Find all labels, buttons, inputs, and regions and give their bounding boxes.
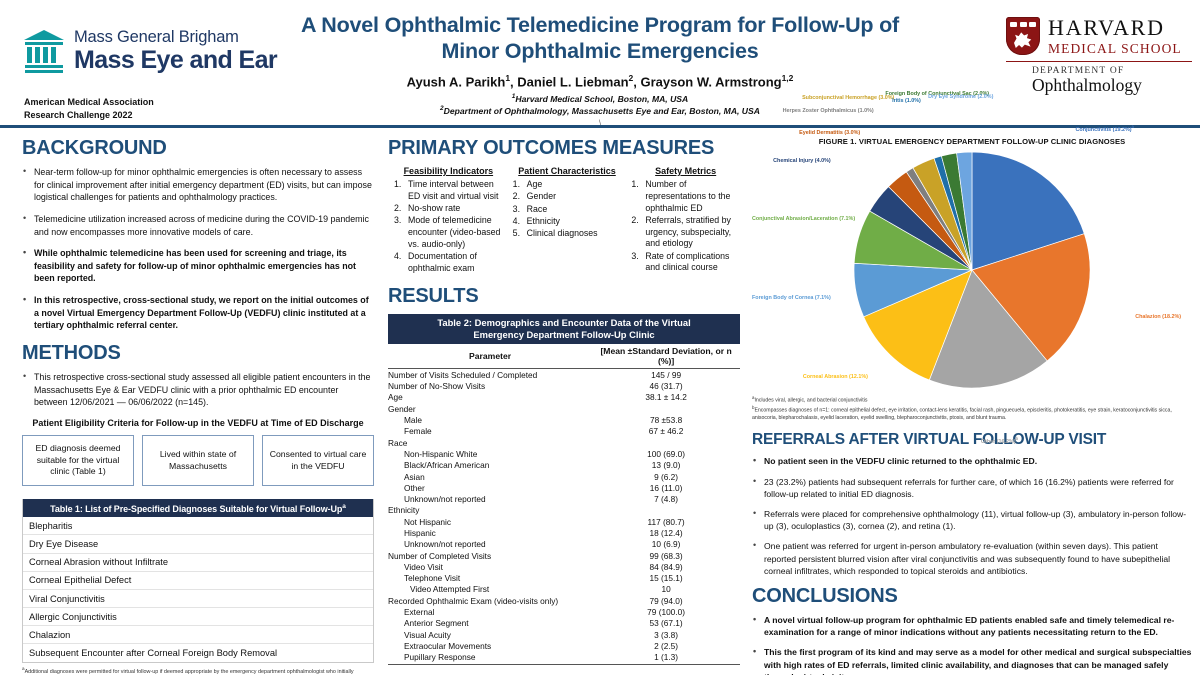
column-right: FIGURE 1. VIRTUAL EMERGENCY DEPARTMENT F… [752, 137, 1192, 675]
pie-svg [752, 148, 1192, 393]
outcomes-column-header: Safety Metrics [631, 166, 740, 176]
table-cell-parameter: Video Visit [388, 561, 592, 572]
outcomes-item: Clinical diagnoses [513, 228, 622, 240]
conclusions-bullet: A novel virtual follow-up program for op… [752, 614, 1192, 638]
table-cell-parameter: Female [388, 426, 592, 437]
pie-slice-label: Conjunctival Abrasion/Laceration (7.1%) [752, 216, 803, 223]
outcomes-list: Time interval between ED visit and virtu… [394, 179, 503, 275]
table-row: Female67 ± 46.2 [388, 426, 740, 437]
results-heading: RESULTS [388, 285, 740, 308]
figure-1-footnotes: aIncludes viral, allergic, and bacterial… [752, 395, 1192, 422]
table-cell-parameter: Number of Completed Visits [388, 550, 592, 561]
table-cell-parameter: Black/African American [388, 460, 592, 471]
conclusions-bullets: A novel virtual follow-up program for op… [752, 614, 1192, 675]
table-2-title: Table 2: Demographics and Encounter Data… [388, 314, 740, 344]
table-cell-parameter: Extraocular Movements [388, 640, 592, 651]
table-cell-value: 9 (6.2) [592, 471, 740, 482]
table-1: Table 1: List of Pre-Specified Diagnoses… [22, 499, 374, 663]
outcomes-item: Gender [513, 191, 622, 203]
table-cell-parameter: Visual Acuity [388, 629, 592, 640]
pie-slice-label: Other (16.2%)b [939, 436, 1059, 446]
table-row: Other16 (11.0) [388, 482, 740, 493]
table-1-footnote: aAdditional diagnoses were permitted for… [22, 666, 374, 675]
outcomes-item: Age [513, 179, 622, 191]
table-cell-parameter: Ethnicity [388, 505, 592, 516]
table-cell-value [592, 505, 740, 516]
outcomes-item: Number of representations to the ophthal… [631, 179, 740, 214]
table-1-row: Corneal Epithelial Defect [23, 572, 373, 590]
table-row: Hispanic18 (12.4) [388, 527, 740, 538]
conclusions-bullet: This the first program of its kind and m… [752, 646, 1192, 675]
mass-eye-and-ear-logo: Mass General Brigham Mass Eye and Ear [22, 28, 277, 74]
table-row: Age38.1 ± 14.2 [388, 392, 740, 403]
outcomes-column-header: Patient Characteristics [513, 166, 622, 176]
table-cell-parameter: Telephone Visit [388, 573, 592, 584]
harvard-shield-icon [1006, 17, 1040, 55]
outcomes-item: Rate of complications and clinical cours… [631, 251, 740, 275]
table-cell-parameter: Non-Hispanic White [388, 448, 592, 459]
table-row: Asian9 (6.2) [388, 471, 740, 482]
table-cell-value: 7 (4.8) [592, 494, 740, 505]
outcomes-columns: Feasibility IndicatorsTime interval betw… [388, 166, 740, 275]
table-cell-value: 2 (2.5) [592, 640, 740, 651]
table-cell-parameter: Recorded Ophthalmic Exam (video-visits o… [388, 595, 592, 606]
background-heading: BACKGROUND [22, 137, 374, 160]
table-cell-parameter: Race [388, 437, 592, 448]
table-row: Recorded Ophthalmic Exam (video-visits o… [388, 595, 740, 606]
author-list: Ayush A. Parikh1, Daniel L. Liebman2, Gr… [270, 73, 930, 89]
outcomes-list: Number of representations to the ophthal… [631, 179, 740, 274]
table-row: Unknown/not reported7 (4.8) [388, 494, 740, 505]
table-cell-parameter: Male [388, 414, 592, 425]
table-1-row: Viral Conjunctivitis [23, 590, 373, 608]
table-cell-parameter: Other [388, 482, 592, 493]
background-bullet: Near-term follow-up for minor ophthalmic… [22, 166, 374, 204]
table-cell-value: 1 (1.3) [592, 652, 740, 665]
eligibility-box: Lived within state of Massachusetts [142, 435, 254, 486]
table-2-col-parameter: Parameter [388, 344, 592, 369]
harvard-medical-school-text: MEDICAL SCHOOL [1048, 42, 1182, 56]
outcomes-column-header: Feasibility Indicators [394, 166, 503, 176]
table-row: External79 (100.0) [388, 606, 740, 617]
eligibility-title: Patient Eligibility Criteria for Follow-… [22, 418, 374, 428]
outcomes-heading: PRIMARY OUTCOMES MEASURES [388, 137, 740, 160]
outcomes-item: No-show rate [394, 203, 503, 215]
harvard-wordmark: HARVARD [1048, 17, 1182, 39]
referrals-bullet: No patient seen in the VEDFU clinic retu… [752, 455, 1192, 467]
eligibility-boxes: ED diagnosis deemed suitable for the vir… [22, 435, 374, 486]
outcomes-column: Patient CharacteristicsAgeGenderRaceEthn… [513, 166, 622, 275]
table-1-title: Table 1: List of Pre-Specified Diagnoses… [23, 499, 373, 517]
table-row: Male78 ±53.8 [388, 414, 740, 425]
table-cell-parameter: Age [388, 392, 592, 403]
table-cell-value: 67 ± 46.2 [592, 426, 740, 437]
table-row: Not Hispanic117 (80.7) [388, 516, 740, 527]
table-cell-value: 16 (11.0) [592, 482, 740, 493]
outcomes-item: Mode of telemedicine encounter (video-ba… [394, 215, 503, 250]
methods-heading: METHODS [22, 342, 374, 365]
table-row: Gender [388, 403, 740, 414]
figure-footnote: aIncludes viral, allergic, and bacterial… [752, 395, 1192, 405]
table-row: Visual Acuity3 (3.8) [388, 629, 740, 640]
conference-line-1: American Medical Association [24, 96, 154, 109]
methods-bullets: This retrospective cross-sectional study… [22, 371, 374, 409]
pie-slice-label: Eyelid Dermatitis (3.0%) [752, 130, 860, 137]
table-cell-value [592, 437, 740, 448]
table-cell-value: 3 (3.8) [592, 629, 740, 640]
table-cell-value: 46 (31.7) [592, 381, 740, 392]
table-cell-value: 117 (80.7) [592, 516, 740, 527]
mgb-org-line: Mass General Brigham [74, 29, 277, 46]
table-2-col-value: [Mean ±Standard Deviation, or n (%)] [592, 344, 740, 369]
background-bullet: Telemedicine utilization increased acros… [22, 213, 374, 238]
conference-label: American Medical Association Research Ch… [24, 96, 154, 122]
pie-slice-label: Dry Eye Syndrome (2.0%) [901, 94, 1021, 101]
outcomes-item: Documentation of ophthalmic exam [394, 251, 503, 275]
pie-slice-label: Foreign Body of Cornea (7.1%) [752, 295, 807, 302]
harvard-medical-school-logo: HARVARD MEDICAL SCHOOL DEPARTMENT OF Oph… [1006, 17, 1192, 95]
background-bullet: In this retrospective, cross-sectional s… [22, 294, 374, 332]
pie-slice-label: Chemical Injury (4.0%) [752, 158, 831, 165]
table-row: Number of No-Show Visits46 (31.7) [388, 381, 740, 392]
table-cell-value: 10 [592, 584, 740, 595]
table-cell-value: 10 (6.9) [592, 539, 740, 550]
pie-slice-label: Corneal Abrasion (12.1%) [752, 374, 868, 381]
pie-slice-label: Herpes Zoster Ophthalmicus (1.0%) [752, 108, 874, 115]
poster-root: Mass General Brigham Mass Eye and Ear Am… [0, 0, 1200, 675]
outcomes-list: AgeGenderRaceEthnicityClinical diagnoses [513, 179, 622, 240]
pie-slice-label: Chalazion (18.2%) [1135, 314, 1181, 321]
table-1-row: Corneal Abrasion without Infiltrate [23, 554, 373, 572]
mgb-building-icon [22, 28, 66, 74]
figure-1-pie-chart: Conjunctivitis (19.2%)aChalazion (18.2%)… [752, 148, 1192, 393]
harvard-ophthalmology-label: Ophthalmology [1006, 77, 1192, 95]
figure-1-title: FIGURE 1. VIRTUAL EMERGENCY DEPARTMENT F… [752, 137, 1192, 146]
table-row: Ethnicity [388, 505, 740, 516]
referrals-bullet: 23 (23.2%) patients had subsequent refer… [752, 476, 1192, 500]
table-row: Race [388, 437, 740, 448]
eligibility-box: ED diagnosis deemed suitable for the vir… [22, 435, 134, 486]
outcomes-item: Race [513, 204, 622, 216]
table-cell-parameter: Number of Visits Scheduled / Completed [388, 369, 592, 381]
table-cell-value [592, 403, 740, 414]
table-cell-value: 53 (67.1) [592, 618, 740, 629]
table-row: Non-Hispanic White100 (69.0) [388, 448, 740, 459]
table-cell-value: 18 (12.4) [592, 527, 740, 538]
table-cell-parameter: Anterior Segment [388, 618, 592, 629]
table-cell-value: 84 (84.9) [592, 561, 740, 572]
table-cell-value: 99 (68.3) [592, 550, 740, 561]
table-cell-value: 13 (9.0) [592, 460, 740, 471]
table-row: Unknown/not reported10 (6.9) [388, 539, 740, 550]
table-cell-parameter: Pupillary Response [388, 652, 592, 665]
background-bullets: Near-term follow-up for minor ophthalmic… [22, 166, 374, 332]
column-left: BACKGROUND Near-term follow-up for minor… [22, 137, 374, 675]
table-cell-parameter: Number of No-Show Visits [388, 381, 592, 392]
referrals-bullet: Referrals were placed for comprehensive … [752, 508, 1192, 532]
column-middle: PRIMARY OUTCOMES MEASURES Feasibility In… [388, 137, 740, 665]
outcomes-item: Time interval between ED visit and virtu… [394, 179, 503, 203]
table-cell-parameter: Video Attempted First [388, 584, 592, 595]
table-row: Number of Completed Visits99 (68.3) [388, 550, 740, 561]
header-divider-rule [0, 125, 1200, 128]
page-title: A Novel Ophthalmic Telemedicine Program … [270, 12, 930, 64]
outcomes-item: Referrals, stratified by urgency, subspe… [631, 215, 740, 250]
table-cell-value: 78 ±53.8 [592, 414, 740, 425]
referrals-bullet: One patient was referred for urgent in-p… [752, 540, 1192, 577]
table-1-row: Blepharitis [23, 517, 373, 535]
table-row: Anterior Segment53 (67.1) [388, 618, 740, 629]
eligibility-box: Consented to virtual care in the VEDFU [262, 435, 374, 486]
table-row: Video Attempted First10 [388, 584, 740, 595]
poster-header: Mass General Brigham Mass Eye and Ear Am… [0, 0, 1200, 127]
table-1-row: Allergic Conjunctivitis [23, 608, 373, 626]
table-cell-value: 79 (100.0) [592, 606, 740, 617]
conclusions-heading: CONCLUSIONS [752, 585, 1192, 608]
table-row: Telephone Visit15 (15.1) [388, 573, 740, 584]
table-row: Pupillary Response1 (1.3) [388, 652, 740, 665]
table-row: Number of Visits Scheduled / Completed14… [388, 369, 740, 381]
table-row: Video Visit84 (84.9) [388, 561, 740, 572]
table-cell-parameter: Hispanic [388, 527, 592, 538]
outcomes-column: Safety MetricsNumber of representations … [631, 166, 740, 275]
methods-bullet: This retrospective cross-sectional study… [22, 371, 374, 409]
table-cell-value: 100 (69.0) [592, 448, 740, 459]
table-cell-value: 79 (94.0) [592, 595, 740, 606]
harvard-divider [1006, 61, 1192, 63]
table-2: Table 2: Demographics and Encounter Data… [388, 314, 740, 665]
outcomes-item: Ethnicity [513, 216, 622, 228]
table-cell-value: 145 / 99 [592, 369, 740, 381]
pie-slice-label: Iritis (1.0%) [752, 98, 921, 105]
table-cell-parameter: External [388, 606, 592, 617]
table-cell-parameter: Not Hispanic [388, 516, 592, 527]
table-cell-parameter: Asian [388, 471, 592, 482]
table-1-row: Dry Eye Disease [23, 535, 373, 553]
mee-org-line: Mass Eye and Ear [74, 47, 277, 73]
table-cell-parameter: Unknown/not reported [388, 494, 592, 505]
table-cell-value: 38.1 ± 14.2 [592, 392, 740, 403]
table-1-row: Subsequent Encounter after Corneal Forei… [23, 644, 373, 661]
table-cell-value: 15 (15.1) [592, 573, 740, 584]
outcomes-column: Feasibility IndicatorsTime interval betw… [394, 166, 503, 275]
table-cell-parameter: Gender [388, 403, 592, 414]
referrals-bullets: No patient seen in the VEDFU clinic retu… [752, 455, 1192, 577]
table-1-row: Chalazion [23, 626, 373, 644]
pie-slice-label: Conjunctivitis (19.2%)a [1076, 124, 1134, 134]
table-row: Black/African American13 (9.0) [388, 460, 740, 471]
conference-line-2: Research Challenge 2022 [24, 109, 154, 122]
table-row: Extraocular Movements2 (2.5) [388, 640, 740, 651]
table-cell-parameter: Unknown/not reported [388, 539, 592, 550]
figure-footnote: bEncompasses diagnoses of n=1: corneal e… [752, 405, 1192, 422]
background-bullet: While ophthalmic telemedicine has been u… [22, 247, 374, 285]
